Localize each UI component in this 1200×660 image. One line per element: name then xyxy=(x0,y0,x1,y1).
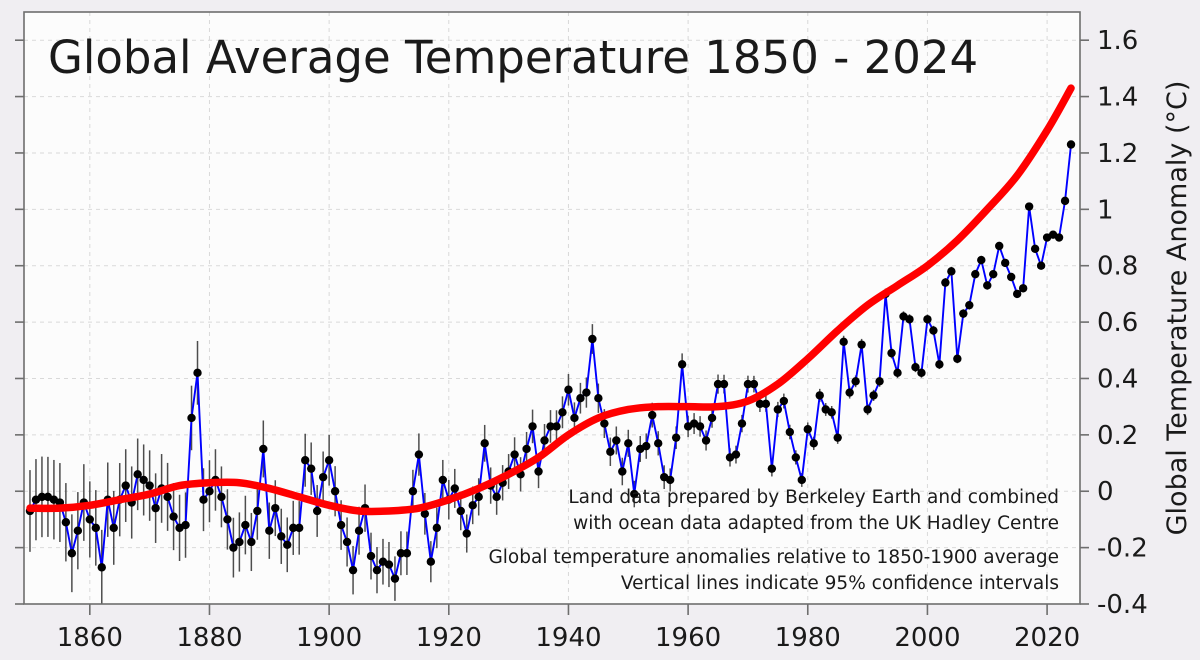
data-point xyxy=(738,419,746,427)
data-point xyxy=(947,267,955,275)
data-point xyxy=(995,242,1003,250)
x-tick-label: 1900 xyxy=(296,623,362,653)
data-point xyxy=(923,315,931,323)
data-point xyxy=(780,397,788,405)
data-point xyxy=(451,484,459,492)
data-point xyxy=(68,549,76,557)
data-point xyxy=(624,439,632,447)
data-point xyxy=(564,386,572,394)
data-point xyxy=(540,436,548,444)
data-point xyxy=(959,309,967,317)
y-axis-title: Global Temperature Anomaly (°C) xyxy=(1162,81,1193,536)
data-point xyxy=(875,377,883,385)
x-axis-tick-labels: 186018801900192019401960198020002020 xyxy=(57,623,1080,653)
data-point xyxy=(385,560,393,568)
source-note-line-2: with ocean data adapted from the UK Hadl… xyxy=(573,513,1059,534)
data-point xyxy=(929,326,937,334)
data-point xyxy=(732,450,740,458)
data-point xyxy=(654,439,662,447)
data-point xyxy=(558,408,566,416)
data-point xyxy=(606,448,614,456)
baseline-note-line-2: Vertical lines indicate 95% confidence i… xyxy=(621,573,1059,594)
data-point xyxy=(851,377,859,385)
data-point xyxy=(409,487,417,495)
data-point xyxy=(259,445,267,453)
y-tick-label: 0.8 xyxy=(1097,252,1138,282)
data-point xyxy=(463,529,471,537)
x-tick-label: 1880 xyxy=(176,623,242,653)
y-tick-label: -0.4 xyxy=(1097,590,1148,620)
data-point xyxy=(702,436,710,444)
data-point xyxy=(1025,202,1033,210)
data-point xyxy=(588,335,596,343)
data-point xyxy=(283,541,291,549)
data-point xyxy=(941,278,949,286)
data-point xyxy=(857,340,865,348)
data-point xyxy=(510,450,518,458)
data-point xyxy=(355,527,363,535)
data-point xyxy=(696,422,704,430)
data-point xyxy=(552,422,560,430)
data-point xyxy=(469,501,477,509)
data-point xyxy=(833,433,841,441)
data-point xyxy=(989,270,997,278)
y-tick-label: 0.6 xyxy=(1097,308,1138,338)
data-point xyxy=(415,450,423,458)
data-point xyxy=(905,315,913,323)
data-point xyxy=(391,574,399,582)
data-point xyxy=(367,552,375,560)
source-note-line-1: Land data prepared by Berkeley Earth and… xyxy=(568,487,1059,508)
data-point xyxy=(331,487,339,495)
data-point xyxy=(1037,262,1045,270)
data-point xyxy=(893,369,901,377)
data-point xyxy=(181,521,189,529)
data-point xyxy=(839,338,847,346)
data-point xyxy=(480,439,488,447)
x-tick-label: 1940 xyxy=(535,623,601,653)
data-point xyxy=(457,507,465,515)
data-point xyxy=(1067,140,1075,148)
data-point xyxy=(253,507,261,515)
data-point xyxy=(199,495,207,503)
data-point xyxy=(74,527,82,535)
data-point xyxy=(804,425,812,433)
data-point xyxy=(983,281,991,289)
y-tick-label: 0.2 xyxy=(1097,421,1138,451)
y-tick-label: 1.2 xyxy=(1097,139,1138,169)
data-point xyxy=(163,493,171,501)
data-point xyxy=(169,512,177,520)
data-point xyxy=(433,524,441,532)
x-tick-label: 1980 xyxy=(775,623,841,653)
data-point xyxy=(762,400,770,408)
data-point xyxy=(863,405,871,413)
data-point xyxy=(343,538,351,546)
data-point xyxy=(612,436,620,444)
y-tick-label: -0.2 xyxy=(1097,534,1148,564)
data-point xyxy=(122,481,130,489)
chart-title: Global Average Temperature 1850 - 2024 xyxy=(48,31,978,84)
data-point xyxy=(1007,273,1015,281)
data-point xyxy=(828,408,836,416)
y-tick-label: 1.6 xyxy=(1097,26,1138,56)
data-point xyxy=(193,369,201,377)
x-tick-label: 1920 xyxy=(416,623,482,653)
data-point xyxy=(774,405,782,413)
x-tick-label: 2000 xyxy=(894,623,960,653)
data-point xyxy=(427,558,435,566)
data-point xyxy=(86,515,94,523)
baseline-note-line-1: Global temperature anomalies relative to… xyxy=(488,547,1059,568)
data-point xyxy=(522,445,530,453)
y-tick-label: 0 xyxy=(1097,477,1114,507)
data-point xyxy=(792,453,800,461)
data-point xyxy=(1019,284,1027,292)
data-point xyxy=(708,414,716,422)
data-point xyxy=(977,256,985,264)
data-point xyxy=(786,428,794,436)
data-point xyxy=(307,464,315,472)
data-point xyxy=(528,422,536,430)
data-point xyxy=(217,493,225,501)
data-point xyxy=(313,507,321,515)
data-point xyxy=(971,270,979,278)
data-point xyxy=(145,481,153,489)
y-tick-label: 0.4 xyxy=(1097,364,1138,394)
data-point xyxy=(570,414,578,422)
x-tick-label: 1860 xyxy=(57,623,123,653)
data-point xyxy=(241,521,249,529)
data-point xyxy=(373,566,381,574)
data-point xyxy=(271,504,279,512)
data-point xyxy=(887,349,895,357)
data-point xyxy=(235,538,243,546)
data-point xyxy=(953,355,961,363)
data-point xyxy=(295,524,303,532)
data-point xyxy=(965,301,973,309)
data-point xyxy=(1055,233,1063,241)
data-point xyxy=(439,476,447,484)
data-point xyxy=(247,538,255,546)
data-point xyxy=(92,524,100,532)
data-point xyxy=(648,411,656,419)
data-point xyxy=(594,394,602,402)
y-tick-label: 1.4 xyxy=(1097,83,1138,113)
data-point xyxy=(720,380,728,388)
data-point xyxy=(110,524,118,532)
data-point xyxy=(403,549,411,557)
data-point xyxy=(475,493,483,501)
data-point xyxy=(265,527,273,535)
data-point xyxy=(845,388,853,396)
data-point xyxy=(98,563,106,571)
data-point xyxy=(1031,245,1039,253)
data-point xyxy=(666,476,674,484)
data-point xyxy=(151,504,159,512)
data-point xyxy=(319,473,327,481)
x-tick-label: 1960 xyxy=(655,623,721,653)
data-point xyxy=(750,380,758,388)
data-point xyxy=(301,456,309,464)
data-point xyxy=(935,360,943,368)
data-point xyxy=(672,433,680,441)
data-point xyxy=(349,566,357,574)
data-point xyxy=(1061,197,1069,205)
data-point xyxy=(1001,259,1009,267)
data-point xyxy=(187,414,195,422)
data-point xyxy=(869,391,877,399)
data-point xyxy=(205,487,213,495)
data-point xyxy=(816,391,824,399)
data-point xyxy=(917,369,925,377)
data-point xyxy=(223,515,231,523)
data-point xyxy=(798,476,806,484)
data-point xyxy=(582,388,590,396)
data-point xyxy=(277,532,285,540)
data-point xyxy=(678,360,686,368)
y-tick-label: 1 xyxy=(1097,195,1114,225)
chart-figure: 186018801900192019401960198020002020 -0.… xyxy=(0,0,1200,660)
data-point xyxy=(492,493,500,501)
data-point xyxy=(768,464,776,472)
data-point xyxy=(618,467,626,475)
data-point xyxy=(642,442,650,450)
data-point xyxy=(62,518,70,526)
data-point xyxy=(325,456,333,464)
data-point xyxy=(534,467,542,475)
data-point xyxy=(810,439,818,447)
data-point xyxy=(337,521,345,529)
temperature-anomaly-chart: 186018801900192019401960198020002020 -0.… xyxy=(0,0,1200,660)
x-tick-label: 2020 xyxy=(1014,623,1080,653)
